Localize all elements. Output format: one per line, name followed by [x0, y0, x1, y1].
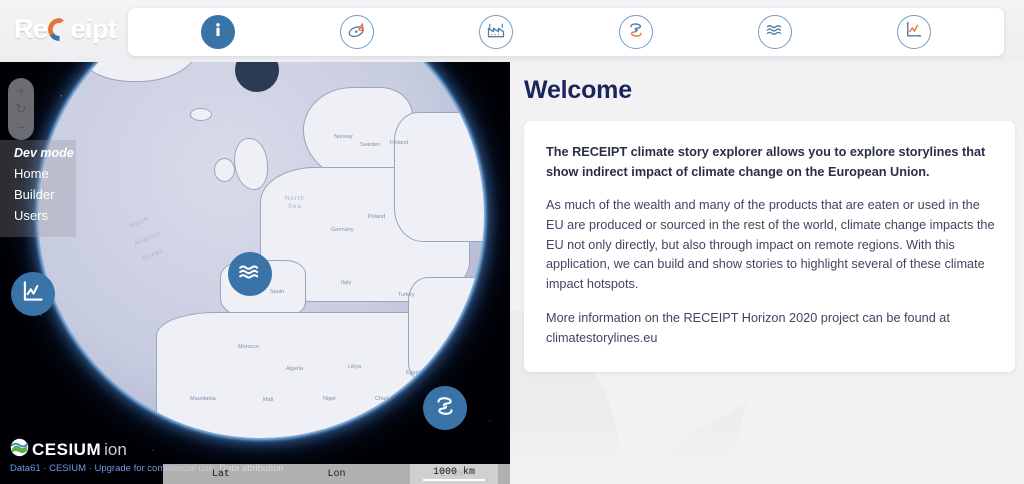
nav-toolbar: [128, 8, 1004, 56]
brand-logo-recycle-c-icon: [47, 17, 72, 42]
welcome-paragraph-body: As much of the wealth and many of the pr…: [546, 196, 995, 294]
info-icon: [207, 19, 229, 46]
globe-viewer[interactable]: NorthAtlanticOceanSpainGermanyPolandItal…: [0, 62, 510, 484]
dev-menu-item-builder[interactable]: Builder: [14, 187, 76, 202]
scale-bar-label: 1000 km: [433, 467, 475, 478]
cesium-globe-icon: [10, 438, 29, 462]
dev-mode-label: Dev mode: [14, 146, 76, 160]
landmass-britain: [234, 138, 268, 190]
marker-water[interactable]: [228, 252, 272, 296]
nav-button-chart[interactable]: [897, 15, 931, 49]
landmass-eastern-europe: [394, 112, 484, 242]
credit-link-data61[interactable]: Data61: [10, 463, 41, 474]
nav-button-remote-sensing[interactable]: [340, 15, 374, 49]
cesium-wordmark: CESIUM: [32, 440, 101, 460]
ion-wordmark: ion: [104, 440, 127, 460]
nav-button-water[interactable]: [758, 15, 792, 49]
geo-label: Atlantic: [134, 231, 162, 248]
credit-separator-2: ·: [89, 463, 92, 474]
welcome-card: The RECEIPT climate story explorer allow…: [524, 121, 1015, 372]
brand-logo-text-after: eipt: [71, 14, 117, 45]
cyclone-icon: [626, 20, 646, 45]
welcome-paragraph-lead: The RECEIPT climate story explorer allow…: [546, 143, 995, 182]
reset-view-button[interactable]: ↻: [11, 100, 31, 117]
dev-menu-item-users[interactable]: Users: [14, 208, 76, 223]
line-chart-icon: [904, 20, 924, 45]
factory-icon: [486, 20, 506, 45]
nav-button-industry[interactable]: [479, 15, 513, 49]
lat-label: Lat: [163, 469, 279, 480]
map-scale-bar: 1000 km: [410, 464, 498, 484]
marker-cyclone[interactable]: [423, 386, 467, 430]
nav-button-storm[interactable]: [619, 15, 653, 49]
water-waves-icon: [237, 259, 263, 290]
brand-logo[interactable]: Re eipt: [14, 14, 117, 45]
landmass-middle-east: [408, 277, 484, 382]
welcome-paragraph-more-info: More information on the RECEIPT Horizon …: [546, 309, 995, 348]
geo-label: Ocean: [142, 248, 165, 263]
landmass-greenland: [78, 62, 198, 82]
page-title: Welcome: [524, 76, 632, 105]
globe-nav-control[interactable]: + ↻ −: [8, 78, 34, 140]
cyclone-icon: [432, 393, 458, 424]
zoom-out-button[interactable]: −: [11, 119, 31, 136]
brand-logo-text-before: Re: [14, 14, 48, 45]
dev-menu-item-home[interactable]: Home: [14, 166, 76, 181]
landmass-ireland: [214, 158, 235, 182]
credit-link-cesium[interactable]: CESIUM: [49, 463, 86, 474]
zoom-in-button[interactable]: +: [11, 82, 31, 99]
cesium-ion-logo[interactable]: CESIUM ion: [10, 438, 127, 462]
lon-label: Lon: [279, 469, 395, 480]
water-waves-icon: [765, 20, 785, 45]
dev-menu: Dev mode Home Builder Users: [0, 140, 76, 237]
satellite-dish-icon: [347, 20, 367, 45]
welcome-panel: Welcome The RECEIPT climate story explor…: [510, 62, 1024, 484]
line-chart-icon: [20, 279, 46, 310]
app-header: Re eipt: [0, 0, 1024, 62]
scale-bar-line: [423, 479, 485, 481]
credit-separator-1: ·: [43, 463, 46, 474]
landmass-iceland: [190, 108, 212, 121]
nav-button-info[interactable]: [201, 15, 235, 49]
marker-chart[interactable]: [11, 272, 55, 316]
geo-label: North: [130, 216, 150, 229]
